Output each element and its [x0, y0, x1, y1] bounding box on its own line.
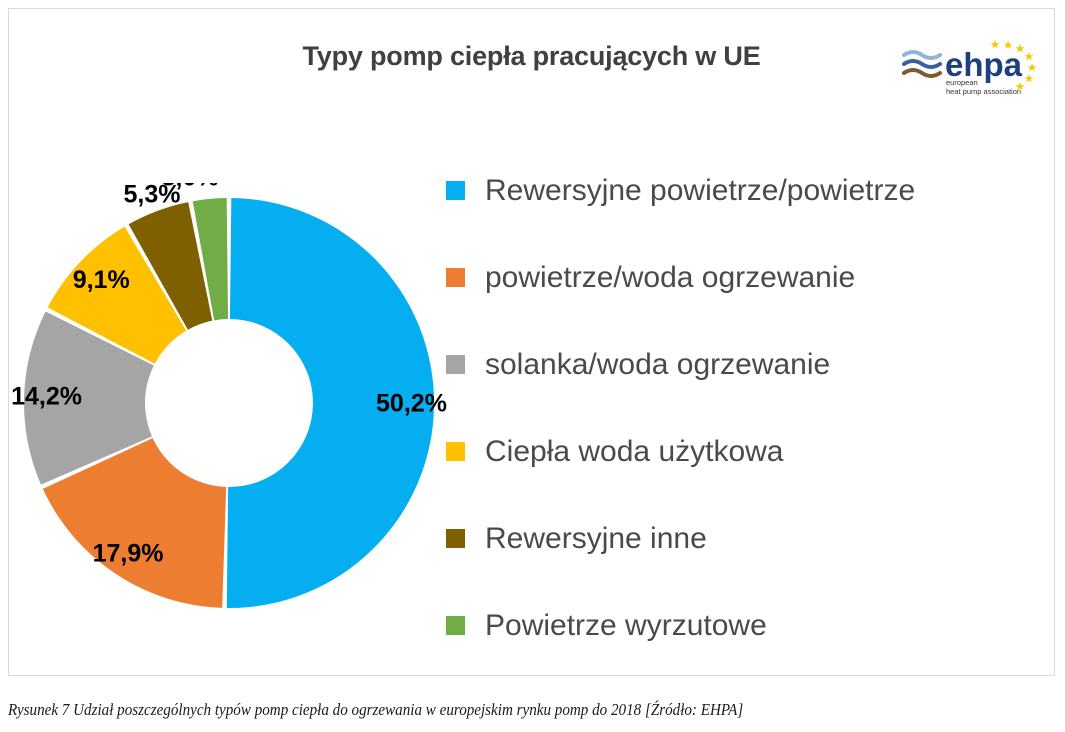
legend-item-1[interactable]: powietrze/woda ogrzewanie [446, 234, 1046, 321]
legend-item-label: Rewersyjne inne [485, 524, 707, 554]
slice-value-label: 9,1% [73, 266, 130, 294]
legend-swatch-icon [446, 529, 465, 548]
slice-value-label: 14,2% [11, 383, 82, 411]
slice-value-label: 3,0% [162, 183, 219, 192]
legend-item-label: solanka/woda ogrzewanie [485, 350, 830, 380]
legend-item-3[interactable]: Ciepła woda użytkowa [446, 408, 1046, 495]
chart-title: Typy pomp ciepła pracujących w UE [9, 41, 1054, 72]
legend-swatch-icon [446, 616, 465, 635]
legend-swatch-icon [446, 181, 465, 200]
donut-chart: 50,2%17,9%14,2%9,1%5,3%3,0% [9, 183, 449, 623]
slice-value-label: 50,2% [376, 390, 447, 418]
legend-swatch-icon [446, 355, 465, 374]
ehpa-logo-svg: ehpa european heat pump association [902, 37, 1047, 99]
legend-item-0[interactable]: Rewersyjne powietrze/powietrze [446, 147, 1046, 234]
legend-swatch-icon [446, 268, 465, 287]
chart-legend: Rewersyjne powietrze/powietrze powietrze… [446, 147, 1046, 669]
legend-swatch-icon [446, 442, 465, 461]
legend-item-label: Ciepła woda użytkowa [485, 437, 784, 467]
ehpa-tagline-line1: european [946, 78, 978, 87]
legend-item-2[interactable]: solanka/woda ogrzewanie [446, 321, 1046, 408]
ehpa-logo: ehpa european heat pump association [902, 37, 1047, 99]
legend-item-label: Rewersyjne powietrze/powietrze [485, 176, 915, 206]
legend-item-4[interactable]: Rewersyjne inne [446, 495, 1046, 582]
donut-slices [24, 198, 434, 608]
legend-item-label: Powietrze wyrzutowe [485, 611, 767, 641]
legend-item-label: powietrze/woda ogrzewanie [485, 263, 855, 293]
chart-frame: Typy pomp ciepła pracujących w UE ehpa [8, 8, 1055, 676]
slice-value-label: 17,9% [93, 540, 164, 568]
wave-icon [904, 52, 940, 76]
figure-caption: Rysunek 7 Udział poszczególnych typów po… [8, 700, 969, 720]
donut-chart-svg: 50,2%17,9%14,2%9,1%5,3%3,0% [9, 183, 449, 623]
ehpa-tagline-line2: heat pump association [946, 87, 1021, 96]
legend-item-5[interactable]: Powietrze wyrzutowe [446, 582, 1046, 669]
